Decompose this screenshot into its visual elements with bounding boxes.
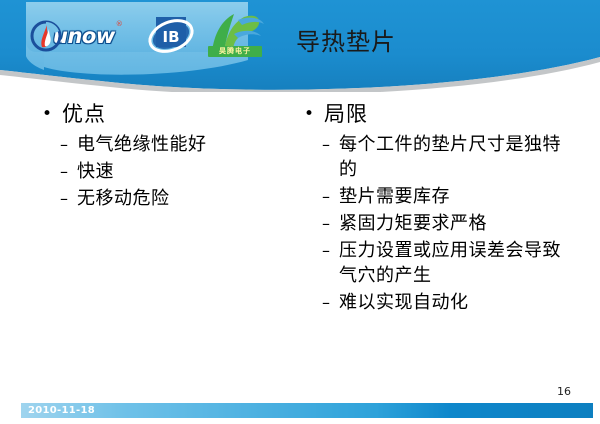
- ib-wordmark: IB: [162, 28, 179, 46]
- page-number: 16: [557, 385, 571, 398]
- unow-wordmark: unow: [53, 24, 115, 48]
- list-item-label: 无移动危险: [77, 186, 170, 211]
- list-item-label: 电气绝缘性能好: [77, 132, 207, 157]
- list-item: – 无移动危险: [60, 186, 288, 211]
- slide-header: unow ® IB 昊腾电子: [0, 0, 600, 92]
- column-heading: • 局限: [300, 100, 565, 128]
- bullet-dot-icon: •: [300, 100, 324, 128]
- list-item-label: 难以实现自动化: [339, 290, 469, 315]
- column-heading-label: 局限: [324, 100, 368, 128]
- dash-bullet-icon: –: [322, 184, 339, 209]
- list-item: – 压力设置或应用误差会导致气穴的产生: [322, 238, 565, 288]
- bullet-dot-icon: •: [38, 100, 62, 128]
- sub-item-list: – 每个工件的垫片尺寸是独特的 – 垫片需要库存 – 紧固力矩要求严格 – 压力…: [322, 132, 565, 315]
- footer-bar: 2010-11-18: [21, 403, 593, 418]
- list-item: – 快速: [60, 159, 288, 184]
- dash-bullet-icon: –: [322, 132, 339, 157]
- unow-flame-icon: [30, 20, 62, 52]
- list-item-label: 紧固力矩要求严格: [339, 211, 487, 236]
- slide-canvas: unow ® IB 昊腾电子: [0, 0, 600, 424]
- sub-item-list: – 电气绝缘性能好 – 快速 – 无移动危险: [60, 132, 288, 211]
- list-item: – 垫片需要库存: [322, 184, 565, 209]
- green-logo-chinese-text: 昊腾电子: [208, 46, 262, 57]
- list-item: – 每个工件的垫片尺寸是独特的: [322, 132, 565, 182]
- green-electronics-logo: 昊腾电子: [204, 12, 266, 60]
- list-item: – 电气绝缘性能好: [60, 132, 288, 157]
- column-heading-label: 优点: [62, 100, 106, 128]
- list-item: – 难以实现自动化: [322, 290, 565, 315]
- unow-logo: unow ®: [30, 16, 138, 56]
- page-title: 导热垫片: [296, 27, 396, 57]
- ib-logo: IB: [146, 14, 196, 58]
- list-item-label: 每个工件的垫片尺寸是独特的: [339, 132, 565, 182]
- dash-bullet-icon: –: [60, 159, 77, 184]
- list-item-label: 垫片需要库存: [339, 184, 450, 209]
- dash-bullet-icon: –: [322, 211, 339, 236]
- column-heading: • 优点: [38, 100, 288, 128]
- dash-bullet-icon: –: [60, 186, 77, 211]
- registered-trademark-icon: ®: [116, 20, 123, 28]
- dash-bullet-icon: –: [60, 132, 77, 157]
- column-limitations: • 局限 – 每个工件的垫片尺寸是独特的 – 垫片需要库存 – 紧固力矩要求严格…: [300, 100, 565, 317]
- list-item-label: 压力设置或应用误差会导致气穴的产生: [339, 238, 565, 288]
- column-advantages: • 优点 – 电气绝缘性能好 – 快速 – 无移动危险: [38, 100, 288, 213]
- footer-date: 2010-11-18: [28, 404, 95, 417]
- dash-bullet-icon: –: [322, 290, 339, 315]
- logo-bar: unow ® IB 昊腾电子: [30, 8, 266, 64]
- ib-oval-icon: IB: [146, 14, 196, 58]
- dash-bullet-icon: –: [322, 238, 339, 263]
- list-item-label: 快速: [77, 159, 114, 184]
- list-item: – 紧固力矩要求严格: [322, 211, 565, 236]
